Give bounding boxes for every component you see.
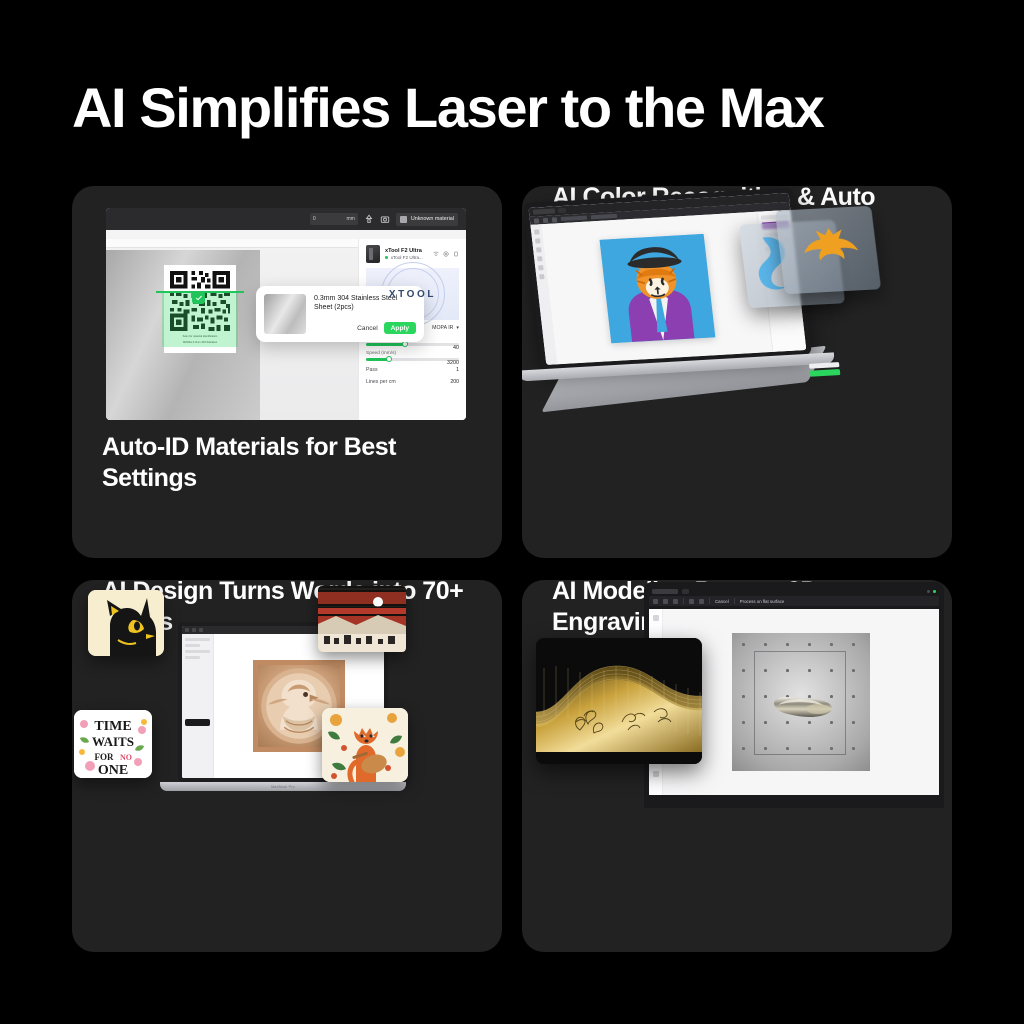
cursor-tool-icon[interactable] — [653, 771, 659, 777]
thickness-input[interactable]: 0 mm — [310, 213, 358, 225]
material-thumbnail — [264, 294, 306, 334]
prompt-line — [185, 656, 200, 659]
image-tool-icon[interactable] — [537, 256, 543, 261]
card-media-auto-id: 0 mm Unknown material — [72, 186, 502, 436]
frame-tool-icon[interactable] — [539, 274, 545, 279]
settings-tool-icon[interactable] — [673, 599, 678, 604]
window-control-icon[interactable] — [185, 628, 189, 632]
gold-curve-preview — [536, 638, 702, 764]
style-card-time-lettering[interactable]: TIME WAITS FOR NO ONE — [74, 710, 152, 778]
param-pass-value: 1 — [456, 367, 459, 373]
tiger-artwork — [599, 233, 715, 342]
undo-icon[interactable] — [689, 599, 694, 604]
svg-text:WAITS: WAITS — [92, 734, 134, 749]
toolbar-divider — [709, 598, 710, 604]
color-layer-orange — [775, 206, 881, 294]
toolbar-icon[interactable] — [534, 218, 540, 223]
window-control-icon[interactable] — [199, 628, 203, 632]
card-media-ai-design: MacBook Pro — [72, 580, 502, 830]
material-chip[interactable]: Unknown material — [396, 213, 458, 226]
toolbar-label-chip — [591, 214, 617, 219]
app-tab-add[interactable] — [558, 208, 567, 213]
card-media-color-recognition — [522, 186, 952, 436]
ai-prompt-sidebar[interactable] — [182, 634, 214, 778]
feature-card-grid: 0 mm Unknown material — [72, 186, 952, 952]
material-swatch-icon — [400, 216, 407, 223]
macbook-label: MacBook Pro — [271, 785, 295, 789]
laser-mode-label: MOPA IR — [432, 325, 453, 331]
brand-wordmark: XTOOL — [389, 289, 436, 300]
laser-head-icon[interactable] — [364, 214, 374, 224]
style-card-landscape[interactable] — [318, 586, 406, 652]
status-dot-icon — [927, 590, 930, 593]
param-speed-label: Speed (mm/s) — [366, 351, 459, 356]
app-toolbar: Cancel Process on flat surface — [649, 596, 939, 606]
move-tool-icon[interactable] — [653, 599, 658, 604]
canvas-ruler — [106, 239, 358, 248]
window-control-icon[interactable] — [192, 628, 196, 632]
status-dot-icon — [385, 256, 388, 259]
cancel-button[interactable]: Cancel — [715, 599, 729, 604]
apply-button[interactable]: Apply — [384, 322, 416, 334]
image-tool-icon[interactable] — [653, 615, 659, 621]
svg-text:ONE: ONE — [98, 763, 128, 778]
process-surface-button[interactable]: Process on flat surface — [740, 599, 785, 604]
app-tab[interactable] — [652, 589, 678, 594]
svg-text:FOR: FOR — [95, 752, 114, 762]
chevron-down-icon: ▾ — [456, 325, 459, 331]
gear-icon — [443, 251, 449, 257]
promo-page: AI Simplifies Laser to the Max 0 mm — [0, 0, 1024, 1024]
card-media-ai-modeling: Cancel Process on flat surface — [522, 580, 952, 830]
thickness-value: 0 — [313, 216, 316, 222]
scan-success-icon — [192, 291, 205, 304]
device-status-label: xTool F2 Ultra... — [391, 255, 423, 260]
toolbar-divider — [734, 598, 735, 604]
redo-icon[interactable] — [699, 599, 704, 604]
pen-tool-icon[interactable] — [538, 265, 544, 270]
toolbar-icon[interactable] — [543, 217, 549, 222]
copy-icon — [453, 251, 459, 257]
prompt-line — [185, 638, 210, 641]
design-canvas[interactable] — [541, 212, 772, 364]
power-slider[interactable] — [366, 343, 459, 346]
style-card-cat[interactable] — [88, 590, 164, 656]
svg-text:TIME: TIME — [94, 719, 131, 734]
param-lines[interactable]: Lines per cm 200 — [366, 379, 459, 385]
param-speed[interactable]: Speed (mm/s) 3200 — [366, 351, 459, 361]
feature-card-ai-modeling[interactable]: Cancel Process on flat surface — [522, 580, 952, 952]
macbook-deck: MacBook Pro — [160, 782, 406, 791]
camera-icon[interactable] — [380, 214, 390, 224]
thickness-unit: mm — [347, 216, 355, 222]
param-speed-value: 3200 — [447, 360, 459, 366]
card-caption-auto-id: Auto-ID Materials for Best Settings — [72, 432, 502, 493]
app-tab-add[interactable] — [682, 589, 689, 594]
xtool-app-screenshot: 0 mm Unknown material — [106, 208, 466, 420]
feature-card-ai-design[interactable]: MacBook Pro — [72, 580, 502, 952]
speed-slider-knob[interactable] — [386, 356, 392, 362]
select-tool-icon[interactable] — [534, 229, 540, 234]
material-chip-label: Unknown material — [411, 216, 454, 222]
device-thumbnail-icon — [366, 245, 380, 263]
param-pass-label: Pass — [366, 367, 378, 373]
param-pass[interactable]: Pass 1 — [366, 367, 459, 373]
wifi-icon — [433, 251, 439, 257]
svg-text:NO: NO — [120, 753, 132, 762]
device-row[interactable]: xTool F2 Ultra xTool F2 Ultra... — [366, 245, 459, 263]
app-tab[interactable] — [533, 208, 556, 214]
device-status: xTool F2 Ultra... — [385, 255, 423, 260]
laser-bed-preview — [732, 633, 870, 771]
speed-slider-fill — [366, 358, 388, 361]
power-slider-knob[interactable] — [402, 341, 408, 347]
power-slider-fill — [366, 343, 405, 346]
metal-object — [770, 685, 834, 719]
page-title: AI Simplifies Laser to the Max — [72, 78, 972, 138]
text-tool-icon[interactable] — [535, 238, 541, 243]
cancel-button[interactable]: Cancel — [357, 325, 378, 332]
speed-slider[interactable] — [366, 358, 459, 361]
device-name: xTool F2 Ultra — [385, 248, 423, 254]
feature-card-color-recognition[interactable]: AI Color Recognition & Auto Segmentation — [522, 186, 952, 558]
app-tab-strip — [649, 587, 939, 596]
window-status-icons — [927, 590, 936, 593]
shape-tool-icon[interactable] — [536, 247, 542, 252]
frame-tool-icon[interactable] — [663, 599, 668, 604]
style-card-fox[interactable] — [322, 708, 408, 782]
prompt-line — [185, 650, 210, 653]
orange-segment-icon — [793, 221, 861, 272]
param-lines-label: Lines per cm — [366, 379, 396, 385]
app-toolbar: 0 mm Unknown material — [106, 208, 466, 230]
status-dot-online-icon — [933, 590, 936, 593]
toolbar-divider — [683, 598, 684, 604]
feature-card-auto-id[interactable]: 0 mm Unknown material — [72, 186, 502, 558]
toolbar-icon[interactable] — [552, 217, 558, 222]
generate-button[interactable] — [185, 719, 210, 726]
param-lines-value: 200 — [450, 379, 459, 385]
prompt-line — [185, 644, 200, 647]
toolbar-label-chip — [561, 216, 587, 221]
device-actions[interactable] — [433, 251, 459, 257]
